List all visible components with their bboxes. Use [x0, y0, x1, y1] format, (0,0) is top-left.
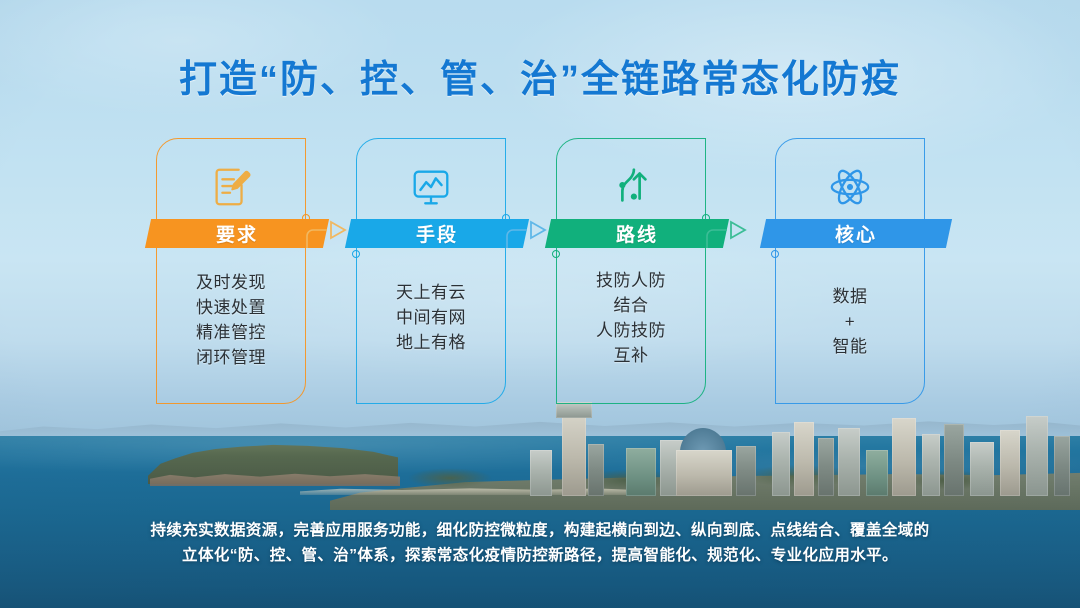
card-means[interactable]: 手段 天上有云 中间有网 地上有格: [356, 138, 506, 404]
frame-node-left: [771, 250, 779, 258]
card-banner: 要求: [145, 219, 329, 248]
card-body: 技防人防 结合 人防技防 互补: [564, 268, 698, 368]
card-banner: 核心: [760, 219, 952, 248]
card-line: 闭环管理: [164, 345, 298, 370]
card-banner: 手段: [345, 219, 529, 248]
frame-node-left: [552, 250, 560, 258]
card-line: +: [783, 309, 917, 334]
card-line: 人防技防: [564, 318, 698, 343]
document-pencil-icon: [156, 156, 306, 218]
card-line: 天上有云: [364, 280, 498, 305]
atom-icon: [775, 156, 925, 218]
monitor-chart-icon: [356, 156, 506, 218]
card-line: 精准管控: [164, 320, 298, 345]
card-body: 天上有云 中间有网 地上有格: [364, 280, 498, 355]
card-label: 要求: [216, 220, 258, 247]
card-label: 手段: [416, 220, 458, 247]
footer-line-2: 立体化“防、控、管、治”体系，探索常态化疫情防控新路径，提高智能化、规范化、专业…: [100, 543, 980, 568]
card-label: 路线: [616, 220, 658, 247]
card-body: 及时发现 快速处置 精准管控 闭环管理: [164, 270, 298, 370]
process-cards: 要求 及时发现 快速处置 精准管控 闭环管理: [0, 0, 1080, 608]
card-line: 中间有网: [364, 305, 498, 330]
card-line: 及时发现: [164, 270, 298, 295]
card-line: 结合: [564, 293, 698, 318]
card-line: 互补: [564, 343, 698, 368]
card-requirement[interactable]: 要求 及时发现 快速处置 精准管控 闭环管理: [156, 138, 306, 404]
connector-arrow-3: [705, 214, 757, 254]
footer-line-1: 持续充实数据资源，完善应用服务功能，细化防控微粒度，构建起横向到边、纵向到底、点…: [100, 518, 980, 543]
card-line: 技防人防: [564, 268, 698, 293]
slide-canvas: 打造“防、控、管、治”全链路常态化防疫 要求 及时发现 快速处置 精准管控 闭环…: [0, 0, 1080, 608]
card-line: 快速处置: [164, 295, 298, 320]
card-line: 地上有格: [364, 330, 498, 355]
card-line: 数据: [783, 284, 917, 309]
card-line: 智能: [783, 334, 917, 359]
card-route[interactable]: 路线 技防人防 结合 人防技防 互补: [556, 138, 706, 404]
card-body: 数据 + 智能: [783, 284, 917, 359]
card-label: 核心: [835, 220, 877, 247]
route-arrow-icon: [556, 156, 706, 218]
card-banner: 路线: [545, 219, 729, 248]
card-core[interactable]: 核心 数据 + 智能: [775, 138, 925, 404]
footer-caption: 持续充实数据资源，完善应用服务功能，细化防控微粒度，构建起横向到边、纵向到底、点…: [100, 518, 980, 568]
frame-node-left: [352, 250, 360, 258]
